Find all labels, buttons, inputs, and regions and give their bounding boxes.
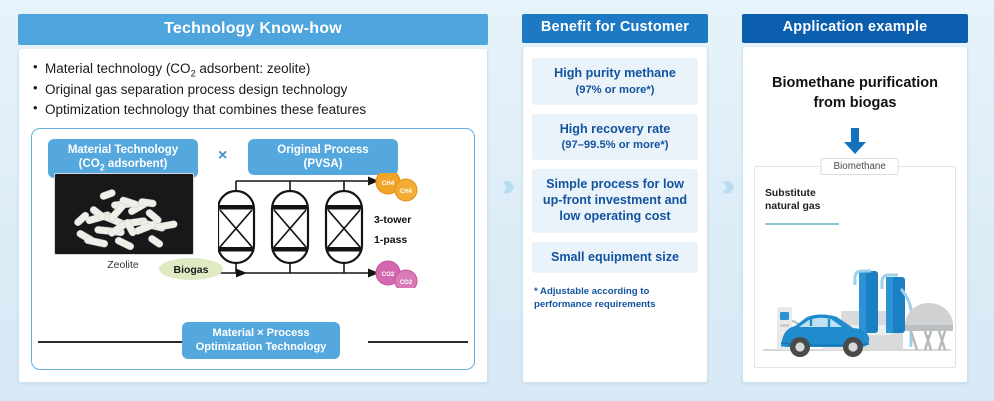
plant-and-car-illustration — [755, 249, 955, 367]
biomethane-tag: Biomethane — [821, 158, 899, 175]
panel1-body: Material technology (CO2 adsorbent: zeol… — [18, 49, 488, 383]
substitute-natural-gas-label: Substitute natural gas — [765, 187, 820, 214]
panel-application-example: Application example Biomethane purificat… — [742, 14, 968, 383]
infographic-board: Technology Know-how Material technology … — [0, 0, 994, 401]
application-title: Biomethane purification from biogas — [755, 73, 955, 114]
material-technology-chip: Material Technology (CO2 adsorbent) — [48, 139, 198, 177]
list-item: Original gas separation process design t… — [33, 80, 475, 100]
tower-label-line1: 3-tower — [374, 214, 411, 226]
panel1-header: Technology Know-how — [18, 14, 488, 45]
pvsa-tower-schematic: CH4 CH4 CO2 CO2 3-tower 1-pass — [218, 173, 433, 288]
bottom-rule-left — [38, 341, 182, 343]
benefit-item-3: Simple process for low up-front investme… — [532, 169, 698, 232]
list-item: Material technology (CO2 adsorbent: zeol… — [33, 59, 475, 81]
benefit-footnote: * Adjustable according to performance re… — [532, 286, 698, 311]
benefit-item-2: High recovery rate (97–99.5% or more*) — [532, 114, 698, 161]
optimization-technology-chip: Material × Process Optimization Technolo… — [182, 322, 340, 359]
co2-bubble-group: CO2 CO2 — [376, 261, 417, 288]
panel-technology-knowhow: Technology Know-how Material technology … — [18, 14, 488, 383]
zeolite-photo — [54, 173, 194, 255]
tower-label-line2: 1-pass — [374, 234, 407, 246]
panel2-header: Benefit for Customer — [522, 14, 708, 43]
application-illustration: Biomethane Substitute natural gas — [754, 166, 956, 368]
label-underline — [765, 223, 839, 225]
separator-chevron-2: ›› — [708, 14, 742, 383]
panel3-body: Biomethane purification from biogas Biom… — [742, 47, 968, 383]
bottom-rule-right — [368, 341, 468, 343]
list-item: Optimization technology that combines th… — [33, 100, 475, 120]
benefit-item-4: Small equipment size — [532, 242, 698, 274]
process-diagram: Material Technology (CO2 adsorbent) × — [31, 128, 475, 370]
svg-text:CH4: CH4 — [382, 180, 395, 187]
panel-benefit-for-customer: Benefit for Customer High purity methane… — [522, 14, 708, 383]
svg-text:CO2: CO2 — [400, 280, 413, 286]
svg-text:CO2: CO2 — [382, 271, 395, 278]
svg-text:CH4: CH4 — [400, 189, 413, 195]
down-arrow-icon — [840, 126, 870, 156]
svg-text:Biogas: Biogas — [173, 264, 208, 276]
panel3-header: Application example — [742, 14, 968, 43]
technology-bullet-list: Material technology (CO2 adsorbent: zeol… — [31, 59, 475, 122]
separator-chevron-1: ›› — [488, 14, 522, 383]
benefit-item-1: High purity methane (97% or more*) — [532, 58, 698, 105]
panel2-body: High purity methane (97% or more*) High … — [522, 47, 708, 383]
original-process-chip: Original Process (PVSA) — [248, 139, 398, 175]
methane-bubble-group: CH4 CH4 — [376, 173, 417, 201]
biogas-inlet-label: Biogas — [158, 257, 224, 281]
multiply-icon: × — [218, 147, 227, 165]
